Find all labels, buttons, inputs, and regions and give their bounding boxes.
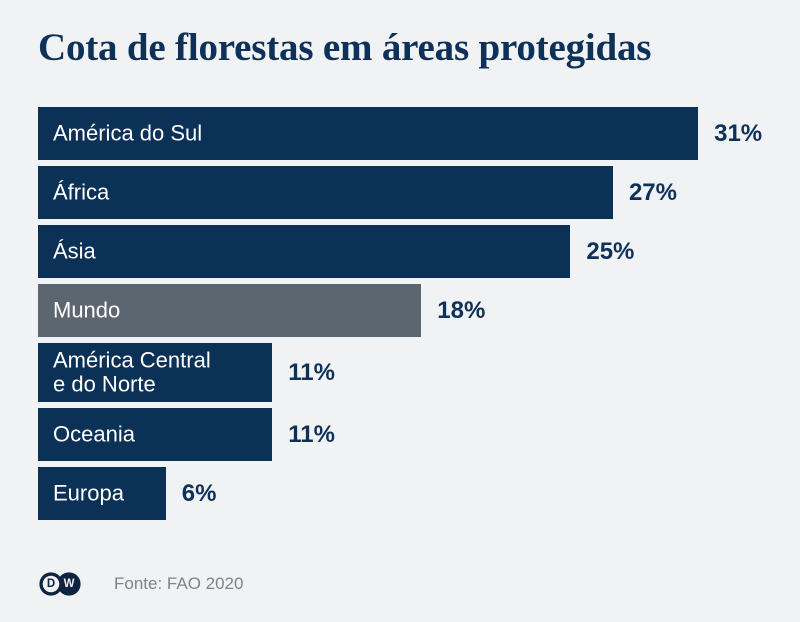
bar-value-label: 31% [714, 120, 762, 148]
bar-rect [38, 343, 272, 402]
source-label: Fonte: FAO 2020 [114, 574, 243, 594]
bar-row: Europa6% [38, 467, 762, 520]
bar-rect [38, 467, 166, 520]
infographic-chart: Cota de florestas em áreas protegidas Am… [0, 0, 800, 622]
bar-value-label: 27% [629, 179, 677, 207]
bar-rect [38, 166, 613, 219]
page-title: Cota de florestas em áreas protegidas [38, 26, 762, 70]
bar-value-label: 25% [586, 238, 634, 266]
bar-row: América do Sul31% [38, 107, 762, 160]
bar-row: América Central e do Norte11% [38, 343, 762, 402]
bar-rect [38, 107, 698, 160]
bar-value-label: 6% [182, 480, 217, 508]
chart-footer: D W Fonte: FAO 2020 [38, 572, 762, 596]
svg-text:W: W [64, 578, 75, 590]
bar-chart-plot-area: América do Sul31%África27%Ásia25%Mundo18… [38, 107, 762, 526]
bar-row: Mundo18% [38, 284, 762, 337]
bar-value-label: 11% [288, 421, 335, 449]
bar-rect [38, 225, 570, 278]
bar-value-label: 11% [288, 359, 335, 387]
dw-logo-icon: D W [38, 572, 82, 596]
bar-row: África27% [38, 166, 762, 219]
svg-text:D: D [47, 578, 55, 590]
bar-rect [38, 284, 421, 337]
bar-row: Oceania11% [38, 408, 762, 461]
bar-rect [38, 408, 272, 461]
title-area: Cota de florestas em áreas protegidas [38, 26, 762, 70]
bar-value-label: 18% [437, 297, 485, 325]
bar-row: Ásia25% [38, 225, 762, 278]
